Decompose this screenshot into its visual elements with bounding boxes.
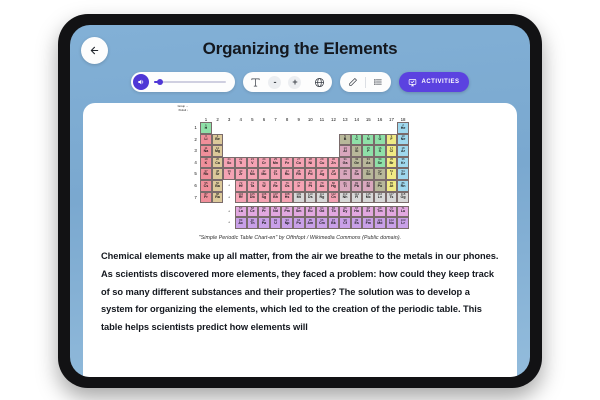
- element-cell: 103Lr: [397, 217, 409, 229]
- activities-label: ACTIVITIES: [421, 79, 459, 85]
- element-cell: 90Th: [247, 217, 259, 229]
- element-cell: 50Sn: [351, 168, 363, 180]
- series-marker: *: [223, 180, 235, 192]
- element-cell: 100Fm: [362, 217, 374, 229]
- activities-button[interactable]: ACTIVITIES: [399, 72, 468, 92]
- element-cell: 57La: [235, 206, 247, 218]
- globe-icon[interactable]: [314, 77, 325, 88]
- element-cell: 29Cu: [316, 157, 328, 169]
- element-cell: 3Li: [200, 134, 212, 146]
- empty-cell: [212, 122, 224, 134]
- empty-cell: [270, 134, 282, 146]
- element-cell: 101Md: [374, 217, 386, 229]
- element-cell: 8O: [374, 134, 386, 146]
- element-cell: 34Se: [374, 157, 386, 169]
- lesson-content-card: Group →Period ↓ 123456789101112131415161…: [83, 103, 517, 377]
- empty-cell: [200, 206, 212, 218]
- element-cell: 20Ca: [212, 157, 224, 169]
- element-cell: 99Es: [351, 217, 363, 229]
- periodic-row: 23Li4Be5B6C7N8O9F10Ne: [191, 134, 409, 146]
- element-cell: 32Ge: [351, 157, 363, 169]
- element-cell: 88Ra: [212, 192, 224, 204]
- empty-cell: [270, 122, 282, 134]
- row-spacer: [191, 217, 200, 229]
- element-cell: 21Sc: [223, 157, 235, 169]
- element-cell: 19K: [200, 157, 212, 169]
- element-cell: 98Cf: [339, 217, 351, 229]
- element-cell: 51Sb: [362, 168, 374, 180]
- element-cell: 114Fl: [351, 192, 363, 204]
- element-cell: 115Mc: [362, 192, 374, 204]
- empty-cell: [305, 122, 317, 134]
- empty-cell: [339, 122, 351, 134]
- element-cell: 11Na: [200, 145, 212, 157]
- empty-cell: [258, 122, 270, 134]
- element-cell: 52Te: [374, 168, 386, 180]
- element-cell: 84Po: [374, 180, 386, 192]
- element-cell: 47Ag: [316, 168, 328, 180]
- element-cell: 81Tl: [339, 180, 351, 192]
- element-cell: 46Pd: [305, 168, 317, 180]
- element-cell: 38Sr: [212, 168, 224, 180]
- element-cell: 70Yb: [386, 206, 398, 218]
- periodic-table-rows: 11H2He23Li4Be5B6C7N8O9F10Ne311Na12Mg13Al…: [191, 122, 409, 203]
- empty-cell: [293, 134, 305, 146]
- empty-cell: [247, 134, 259, 146]
- empty-cell: [316, 145, 328, 157]
- toolbar-divider: [365, 77, 366, 88]
- element-cell: 96Cm: [316, 217, 328, 229]
- element-cell: 85At: [386, 180, 398, 192]
- element-cell: 7N: [362, 134, 374, 146]
- element-cell: 24Cr: [258, 157, 270, 169]
- toolbar: - +: [70, 72, 530, 92]
- series-marker: *: [223, 206, 235, 218]
- row-spacer: [191, 206, 200, 218]
- element-cell: 4Be: [212, 134, 224, 146]
- empty-cell: [281, 134, 293, 146]
- element-cell: 113Nh: [339, 192, 351, 204]
- periodic-row: 11H2He: [191, 122, 409, 134]
- element-cell: 5B: [339, 134, 351, 146]
- element-cell: 102No: [386, 217, 398, 229]
- element-cell: 36Kr: [397, 157, 409, 169]
- element-cell: 74W: [258, 180, 270, 192]
- element-cell: 106Sg: [258, 192, 270, 204]
- empty-cell: [281, 145, 293, 157]
- tablet-frame: Organizing the Elements: [58, 14, 542, 388]
- periodic-table-figure: Group →Period ↓ 123456789101112131415161…: [101, 111, 499, 229]
- annotation-tools-group: [340, 72, 391, 92]
- element-cell: 23V: [247, 157, 259, 169]
- empty-cell: [305, 134, 317, 146]
- audio-control-group: [131, 72, 235, 92]
- element-cell: 110Ds: [305, 192, 317, 204]
- element-cell: 67Ho: [351, 206, 363, 218]
- period-number: 7: [191, 192, 200, 204]
- empty-cell: [247, 122, 259, 134]
- empty-cell: [235, 145, 247, 157]
- element-cell: 33As: [362, 157, 374, 169]
- element-cell: 117Ts: [386, 192, 398, 204]
- element-cell: 35Br: [386, 157, 398, 169]
- element-cell: 30Zn: [328, 157, 340, 169]
- f-block-row: *57La58Ce59Pr60Nd61Pm62Sm63Eu64Gd65Tb66D…: [191, 206, 409, 218]
- element-cell: 61Pm: [281, 206, 293, 218]
- group-header-row: 123456789101112131415161718: [200, 114, 409, 122]
- element-cell: 17Cl: [386, 145, 398, 157]
- decrease-text-size-button[interactable]: -: [268, 76, 281, 89]
- element-cell: 73Ta: [247, 180, 259, 192]
- element-cell: 76Os: [281, 180, 293, 192]
- element-cell: 27Co: [293, 157, 305, 169]
- element-cell: 92U: [270, 217, 282, 229]
- element-cell: 39Y: [223, 168, 235, 180]
- speaker-icon: [137, 78, 145, 86]
- f-block-rows: *57La58Ce59Pr60Nd61Pm62Sm63Eu64Gd65Tb66D…: [191, 206, 409, 229]
- element-cell: 15P: [362, 145, 374, 157]
- element-cell: 93Np: [281, 217, 293, 229]
- element-cell: 104Rf: [235, 192, 247, 204]
- periodic-table: Group →Period ↓ 123456789101112131415161…: [191, 114, 409, 229]
- periodic-row: 419K20Ca21Sc22Ti23V24Cr25Mn26Fe27Co28Ni2…: [191, 157, 409, 169]
- empty-cell: [223, 145, 235, 157]
- element-cell: 63Eu: [305, 206, 317, 218]
- text-size-control-group: - +: [243, 72, 332, 92]
- element-cell: 68Er: [362, 206, 374, 218]
- page-title: Organizing the Elements: [70, 39, 530, 59]
- element-cell: 25Mn: [270, 157, 282, 169]
- element-cell: 83Bi: [362, 180, 374, 192]
- monitor-icon: [408, 78, 417, 87]
- empty-cell: [328, 145, 340, 157]
- periodic-row: 311Na12Mg13Al14Si15P16S17Cl18Ar: [191, 145, 409, 157]
- empty-cell: [386, 122, 398, 134]
- element-cell: 69Tm: [374, 206, 386, 218]
- element-cell: 108Hs: [281, 192, 293, 204]
- element-cell: 75Re: [270, 180, 282, 192]
- empty-cell: [223, 134, 235, 146]
- element-cell: 49In: [339, 168, 351, 180]
- element-cell: 16S: [374, 145, 386, 157]
- period-number: 1: [191, 122, 200, 134]
- empty-cell: [258, 145, 270, 157]
- element-cell: 12Mg: [212, 145, 224, 157]
- empty-cell: [200, 217, 212, 229]
- period-number: 3: [191, 145, 200, 157]
- element-cell: 66Dy: [339, 206, 351, 218]
- element-cell: 10Ne: [397, 134, 409, 146]
- element-cell: 14Si: [351, 145, 363, 157]
- element-cell: 40Zr: [235, 168, 247, 180]
- element-cell: 13Al: [339, 145, 351, 157]
- tablet-screen: Organizing the Elements: [70, 25, 530, 377]
- series-marker: *: [223, 217, 235, 229]
- empty-cell: [235, 122, 247, 134]
- element-cell: 77Ir: [293, 180, 305, 192]
- element-cell: 87Fr: [200, 192, 212, 204]
- empty-cell: [328, 134, 340, 146]
- element-cell: 64Gd: [316, 206, 328, 218]
- element-cell: 37Rb: [200, 168, 212, 180]
- element-cell: 53I: [386, 168, 398, 180]
- element-cell: 118Og: [397, 192, 409, 204]
- element-cell: 41Nb: [247, 168, 259, 180]
- element-cell: 82Pb: [351, 180, 363, 192]
- empty-cell: [223, 122, 235, 134]
- increase-text-size-button[interactable]: +: [288, 76, 301, 89]
- periodic-row: 655Cs56Ba*72Hf73Ta74W75Re76Os77Ir78Pt79A…: [191, 180, 409, 192]
- element-cell: 79Au: [316, 180, 328, 192]
- period-number: 5: [191, 168, 200, 180]
- audio-progress-slider[interactable]: [154, 77, 226, 87]
- empty-cell: [270, 145, 282, 157]
- element-cell: 78Pt: [305, 180, 317, 192]
- lesson-paragraph: Chemical elements make up all matter, fr…: [101, 248, 499, 337]
- element-cell: 72Hf: [235, 180, 247, 192]
- screenshot-root: Organizing the Elements: [0, 0, 600, 400]
- element-cell: 44Ru: [281, 168, 293, 180]
- element-cell: 107Bh: [270, 192, 282, 204]
- period-number: 6: [191, 180, 200, 192]
- f-block-row: *89Ac90Th91Pa92U93Np94Pu95Am96Cm97Bk98Cf…: [191, 217, 409, 229]
- element-cell: 60Nd: [270, 206, 282, 218]
- empty-cell: [305, 145, 317, 157]
- empty-cell: [258, 134, 270, 146]
- element-cell: 9F: [386, 134, 398, 146]
- element-cell: 56Ba: [212, 180, 224, 192]
- group-period-axis-label: Group →Period ↓: [170, 105, 188, 112]
- element-cell: 65Tb: [328, 206, 340, 218]
- period-number: 4: [191, 157, 200, 169]
- empty-cell: [212, 206, 224, 218]
- slider-handle[interactable]: [157, 79, 163, 85]
- periodic-row: 537Rb38Sr39Y40Zr41Nb42Mo43Tc44Ru45Rh46Pd…: [191, 168, 409, 180]
- element-cell: 2He: [397, 122, 409, 134]
- element-cell: 18Ar: [397, 145, 409, 157]
- element-cell: 95Am: [305, 217, 317, 229]
- element-cell: 89Ac: [235, 217, 247, 229]
- element-cell: 58Ce: [247, 206, 259, 218]
- play-audio-button[interactable]: [133, 74, 149, 90]
- element-cell: 112Cn: [328, 192, 340, 204]
- pencil-icon[interactable]: [348, 77, 358, 87]
- element-cell: 1H: [200, 122, 212, 134]
- element-cell: 45Rh: [293, 168, 305, 180]
- empty-cell: [247, 145, 259, 157]
- element-cell: 105Db: [247, 192, 259, 204]
- element-cell: 31Ga: [339, 157, 351, 169]
- figure-caption: "Simple Periodic Table Chart-en" by Offn…: [101, 235, 499, 241]
- empty-cell: [351, 122, 363, 134]
- element-cell: 80Hg: [328, 180, 340, 192]
- period-number: 2: [191, 134, 200, 146]
- element-cell: 116Lv: [374, 192, 386, 204]
- element-cell: 94Pu: [293, 217, 305, 229]
- element-cell: 55Cs: [200, 180, 212, 192]
- empty-cell: [362, 122, 374, 134]
- empty-cell: [293, 145, 305, 157]
- slider-track: [154, 81, 226, 83]
- element-cell: 111Rg: [316, 192, 328, 204]
- element-cell: 22Ti: [235, 157, 247, 169]
- element-cell: 109Mt: [293, 192, 305, 204]
- empty-cell: [316, 134, 328, 146]
- empty-cell: [328, 122, 340, 134]
- element-cell: 28Ni: [305, 157, 317, 169]
- element-cell: 26Fe: [281, 157, 293, 169]
- element-cell: 54Xe: [397, 168, 409, 180]
- element-cell: 97Bk: [328, 217, 340, 229]
- empty-cell: [316, 122, 328, 134]
- text-format-icon: [250, 77, 261, 88]
- list-icon[interactable]: [373, 77, 383, 87]
- element-cell: 62Sm: [293, 206, 305, 218]
- empty-cell: [281, 122, 293, 134]
- series-marker: *: [223, 192, 235, 204]
- element-cell: 48Cd: [328, 168, 340, 180]
- empty-cell: [212, 217, 224, 229]
- periodic-row: 787Fr88Ra*104Rf105Db106Sg107Bh108Hs109Mt…: [191, 192, 409, 204]
- empty-cell: [374, 122, 386, 134]
- element-cell: 91Pa: [258, 217, 270, 229]
- empty-cell: [235, 134, 247, 146]
- element-cell: 71Lu: [397, 206, 409, 218]
- empty-cell: [293, 122, 305, 134]
- element-cell: 6C: [351, 134, 363, 146]
- element-cell: 86Rn: [397, 180, 409, 192]
- element-cell: 42Mo: [258, 168, 270, 180]
- element-cell: 59Pr: [258, 206, 270, 218]
- element-cell: 43Tc: [270, 168, 282, 180]
